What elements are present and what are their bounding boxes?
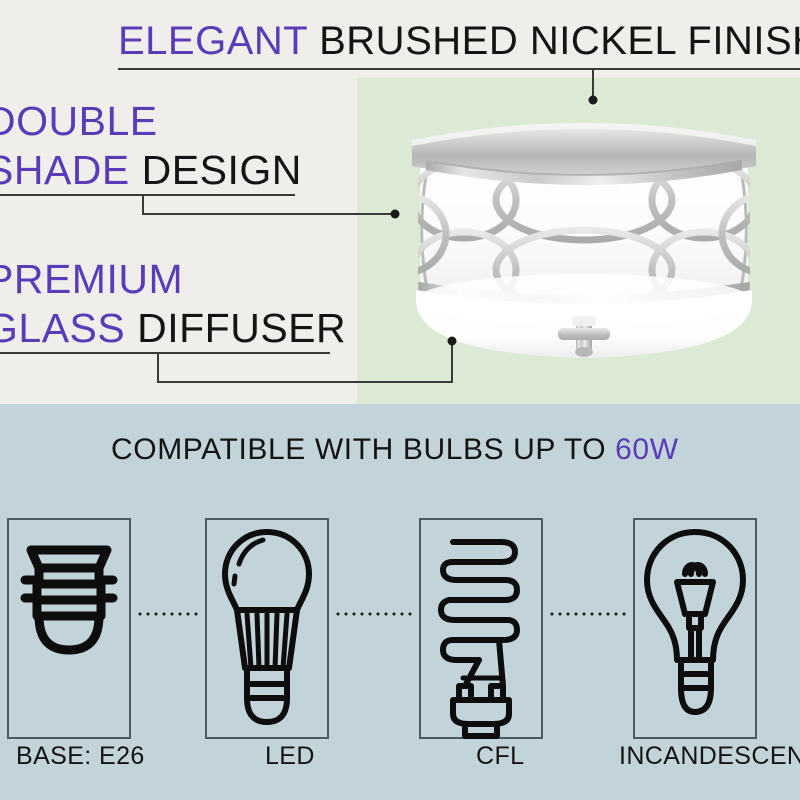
title-underline — [118, 68, 800, 70]
feature-2-line2-rest: DIFFUSER — [125, 305, 346, 351]
connector-dots-3 — [548, 612, 628, 616]
bulb-label-base: BASE: E26 — [16, 741, 145, 771]
bulb-headline-wattage: 60W — [615, 433, 679, 466]
bulb-label-cfl: CFL — [476, 741, 524, 771]
led-bulb-icon — [205, 518, 329, 739]
connector-dots-1 — [136, 612, 200, 616]
bulb-label-incandescent: INCANDESCENT — [619, 741, 800, 771]
feature-1-line1: DOUBLE — [0, 98, 158, 144]
feature-premium-glass-diffuser: PREMIUM GLASS DIFFUSER — [0, 255, 346, 353]
feature-1-line2-rest: DESIGN — [130, 147, 302, 193]
feature-2-underline — [0, 352, 330, 354]
e26-screw-base-icon — [7, 518, 131, 739]
bulb-headline-prefix: COMPATIBLE WITH BULBS UP TO — [111, 433, 615, 466]
product-image-ceiling-light — [386, 104, 782, 372]
title-accent-word: ELEGANT — [118, 19, 308, 63]
bulb-compatibility-headline: COMPATIBLE WITH BULBS UP TO 60W — [111, 432, 679, 468]
infographic-canvas: ELEGANT BRUSHED NICKEL FINISH DOUBLE SHA… — [0, 0, 800, 800]
feature-2-line1: PREMIUM — [0, 256, 183, 302]
page-title: ELEGANT BRUSHED NICKEL FINISH — [118, 18, 800, 64]
feature-2-line2-accent: GLASS — [0, 305, 125, 351]
cfl-bulb-icon — [419, 518, 543, 739]
connector-dots-2 — [334, 612, 414, 616]
feature-1-underline — [0, 194, 295, 196]
incandescent-bulb-icon — [633, 518, 757, 739]
feature-1-line2-accent: SHADE — [0, 147, 130, 193]
bulb-label-led: LED — [265, 741, 315, 771]
feature-double-shade-design: DOUBLE SHADE DESIGN — [0, 97, 302, 195]
title-rest: BRUSHED NICKEL FINISH — [308, 19, 800, 63]
